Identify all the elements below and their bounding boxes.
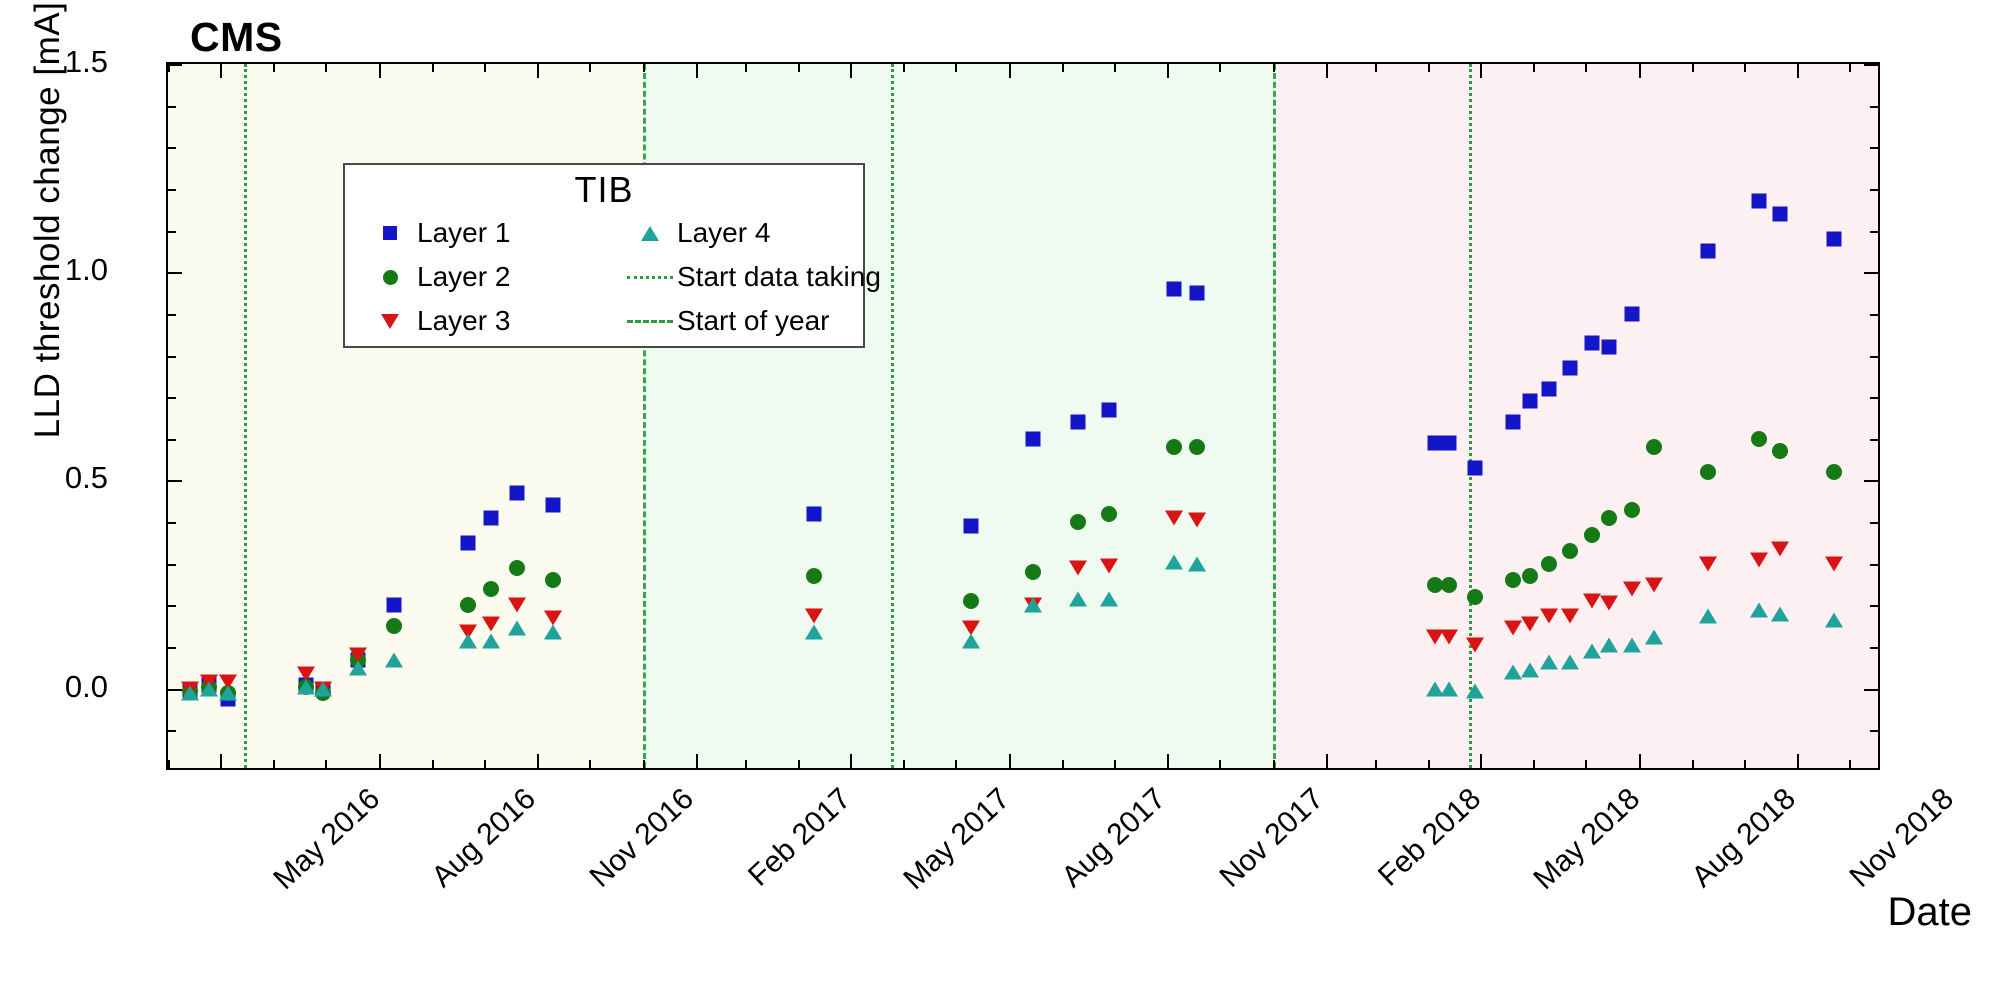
x-tick-minor (1744, 64, 1746, 72)
y-tick-minor (168, 647, 176, 649)
data-point-layer-3 (1583, 594, 1601, 609)
y-tick-major (1864, 480, 1878, 482)
data-point-layer-3 (1100, 558, 1118, 573)
x-tick-minor (1219, 64, 1221, 72)
y-tick-major (1864, 689, 1878, 691)
x-tick-major (1326, 754, 1328, 768)
legend-entry[interactable]: Layer 2 (363, 261, 510, 293)
x-tick-minor (745, 760, 747, 768)
x-tick-label: Nov 2017 (1214, 782, 1331, 894)
legend-entry[interactable]: Layer 4 (623, 217, 770, 249)
data-point-layer-4 (1440, 681, 1458, 696)
x-tick-major (850, 64, 852, 78)
data-point-layer-4 (219, 685, 237, 700)
y-tick-minor (168, 314, 176, 316)
data-point-layer-3 (1825, 556, 1843, 571)
data-point-layer-4 (314, 681, 332, 696)
data-point-layer-2 (483, 581, 499, 597)
data-point-layer-2 (1601, 510, 1617, 526)
y-tick-label: 1.5 (65, 44, 108, 80)
x-tick-minor (903, 760, 905, 768)
x-tick-major (1326, 64, 1328, 78)
y-tick-minor (1870, 147, 1878, 149)
data-point-layer-4 (1583, 644, 1601, 659)
x-tick-minor (1219, 760, 1221, 768)
data-point-layer-4 (1069, 592, 1087, 607)
x-tick-major (1167, 754, 1169, 768)
x-tick-major (537, 754, 539, 768)
y-tick-minor (1870, 605, 1878, 607)
data-point-layer-4 (508, 621, 526, 636)
legend-label: Layer 2 (417, 261, 510, 293)
data-point-layer-1 (461, 535, 476, 550)
legend-marker-sample (383, 270, 398, 285)
x-tick-major (1009, 754, 1011, 768)
y-tick-minor (168, 147, 176, 149)
data-point-layer-1 (1562, 361, 1577, 376)
x-tick-minor (1585, 64, 1587, 72)
x-tick-major (696, 754, 698, 768)
x-tick-minor (1428, 64, 1430, 72)
data-point-layer-1 (1541, 381, 1556, 396)
legend-entry[interactable]: Start of year (623, 305, 830, 337)
x-tick-minor (1533, 760, 1535, 768)
data-point-layer-4 (1100, 592, 1118, 607)
x-tick-major (379, 754, 381, 768)
x-tick-major (220, 754, 222, 768)
y-tick-minor (1870, 397, 1878, 399)
data-point-layer-1 (1025, 431, 1040, 446)
data-point-layer-2 (1562, 543, 1578, 559)
x-tick-major (537, 64, 539, 78)
vline-dotted (244, 64, 247, 768)
data-point-layer-3 (1750, 552, 1768, 567)
data-point-layer-4 (459, 633, 477, 648)
y-tick-major (1864, 272, 1878, 274)
legend-marker-dotted-line (623, 276, 677, 279)
data-point-layer-1 (1773, 206, 1788, 221)
data-point-layer-1 (509, 485, 524, 500)
x-tick-minor (1375, 64, 1377, 72)
y-tick-major (1864, 64, 1878, 66)
data-point-layer-1 (1505, 415, 1520, 430)
x-tick-minor (643, 64, 645, 72)
x-tick-label: Nov 2016 (584, 782, 701, 894)
y-tick-major (168, 64, 182, 66)
x-tick-label: May 2018 (1527, 782, 1647, 897)
data-point-layer-3 (1600, 596, 1618, 611)
data-point-layer-4 (1645, 629, 1663, 644)
data-point-layer-1 (1826, 231, 1841, 246)
y-tick-minor (168, 605, 176, 607)
vline-dotted (891, 64, 894, 768)
x-tick-minor (1849, 760, 1851, 768)
x-tick-minor (168, 760, 170, 768)
x-tick-major (850, 754, 852, 768)
data-point-layer-3 (805, 608, 823, 623)
x-tick-minor (589, 64, 591, 72)
data-point-layer-3 (1069, 560, 1087, 575)
vline-dashed (1273, 64, 1276, 768)
legend-entry[interactable]: Layer 3 (363, 305, 510, 337)
data-point-layer-2 (1166, 439, 1182, 455)
x-tick-minor (273, 760, 275, 768)
x-tick-label: Aug 2016 (425, 782, 542, 894)
data-point-layer-1 (1427, 435, 1442, 450)
data-point-layer-1 (1070, 415, 1085, 430)
data-point-layer-2 (806, 568, 822, 584)
data-point-layer-1 (1624, 306, 1639, 321)
data-point-layer-1 (806, 506, 821, 521)
data-point-layer-3 (1645, 577, 1663, 592)
data-point-layer-4 (1521, 662, 1539, 677)
data-point-layer-2 (1025, 564, 1041, 580)
data-point-layer-2 (1751, 431, 1767, 447)
legend-label: Layer 1 (417, 217, 510, 249)
y-tick-major (168, 272, 182, 274)
y-tick-minor (168, 189, 176, 191)
data-point-layer-1 (1700, 244, 1715, 259)
data-point-layer-2 (1522, 568, 1538, 584)
data-point-layer-3 (482, 617, 500, 632)
data-point-layer-4 (1623, 637, 1641, 652)
y-tick-minor (1870, 231, 1878, 233)
x-tick-minor (1062, 64, 1064, 72)
data-point-layer-4 (962, 633, 980, 648)
x-tick-minor (1744, 760, 1746, 768)
data-point-layer-4 (1699, 608, 1717, 623)
data-point-layer-4 (1825, 612, 1843, 627)
y-tick-label: 0.5 (65, 460, 108, 496)
legend-label: Layer 4 (677, 217, 770, 249)
legend-marker-triangle-up (623, 226, 677, 241)
y-tick-label: 0.0 (65, 669, 108, 705)
data-point-layer-1 (1441, 435, 1456, 450)
y-tick-minor (168, 356, 176, 358)
x-tick-minor (955, 64, 957, 72)
legend-entry[interactable]: Layer 1 (363, 217, 510, 249)
x-tick-major (696, 64, 698, 78)
data-point-layer-4 (1540, 654, 1558, 669)
data-point-layer-2 (1700, 464, 1716, 480)
y-tick-minor (1870, 564, 1878, 566)
x-tick-minor (1375, 760, 1377, 768)
data-point-layer-1 (545, 498, 560, 513)
y-tick-minor (168, 397, 176, 399)
x-tick-label: Aug 2018 (1685, 782, 1802, 894)
x-tick-minor (589, 760, 591, 768)
data-point-layer-2 (1541, 556, 1557, 572)
legend-label: Start data taking (677, 261, 881, 293)
y-axis-title: LLD threshold change [mA] (28, 0, 68, 530)
y-tick-minor (168, 439, 176, 441)
y-tick-major (168, 689, 182, 691)
x-tick-minor (1692, 760, 1694, 768)
data-point-layer-1 (483, 510, 498, 525)
legend-marker-sample (641, 226, 659, 241)
x-tick-label: Aug 2017 (1055, 782, 1172, 894)
data-point-layer-3 (1466, 637, 1484, 652)
x-tick-major (1480, 64, 1482, 78)
x-tick-minor (432, 760, 434, 768)
x-tick-minor (1533, 64, 1535, 72)
data-point-layer-3 (1504, 621, 1522, 636)
data-point-layer-2 (1101, 506, 1117, 522)
x-tick-minor (1062, 760, 1064, 768)
data-point-layer-1 (1101, 402, 1116, 417)
data-point-layer-2 (460, 597, 476, 613)
y-tick-minor (1870, 189, 1878, 191)
data-point-layer-1 (1585, 336, 1600, 351)
x-tick-minor (484, 64, 486, 72)
x-tick-minor (745, 64, 747, 72)
data-point-layer-1 (387, 598, 402, 613)
legend-label: Start of year (677, 305, 830, 337)
y-tick-minor (1870, 522, 1878, 524)
y-tick-minor (1870, 314, 1878, 316)
x-tick-minor (798, 64, 800, 72)
data-point-layer-3 (508, 598, 526, 613)
y-tick-minor (1870, 647, 1878, 649)
x-tick-minor (1585, 760, 1587, 768)
legend-title: TIB (345, 169, 863, 211)
x-tick-major (1639, 64, 1641, 78)
data-point-layer-2 (963, 593, 979, 609)
x-tick-minor (168, 64, 170, 72)
data-point-layer-2 (509, 560, 525, 576)
legend-marker-circle (363, 270, 417, 285)
x-tick-minor (798, 760, 800, 768)
data-point-layer-1 (1467, 460, 1482, 475)
y-tick-minor (1870, 106, 1878, 108)
data-point-layer-1 (963, 519, 978, 534)
x-tick-label: Nov 2018 (1844, 782, 1961, 894)
data-point-layer-3 (544, 610, 562, 625)
y-tick-minor (168, 730, 176, 732)
x-tick-minor (484, 760, 486, 768)
y-tick-minor (1870, 730, 1878, 732)
x-tick-label: Feb 2018 (1372, 782, 1488, 893)
x-tick-minor (1114, 760, 1116, 768)
x-tick-minor (1849, 64, 1851, 72)
data-point-layer-1 (1522, 394, 1537, 409)
data-point-layer-4 (1504, 665, 1522, 680)
x-tick-label: May 2016 (267, 782, 387, 897)
x-tick-label: May 2017 (897, 782, 1017, 897)
data-point-layer-3 (1521, 617, 1539, 632)
data-point-layer-4 (297, 679, 315, 694)
x-tick-minor (955, 760, 957, 768)
legend-marker-square (363, 226, 417, 240)
y-tick-minor (168, 522, 176, 524)
y-tick-minor (1870, 356, 1878, 358)
data-point-layer-3 (1188, 513, 1206, 528)
data-point-layer-4 (805, 625, 823, 640)
x-tick-minor (1428, 760, 1430, 768)
x-tick-major (379, 64, 381, 78)
x-tick-minor (325, 64, 327, 72)
data-point-layer-2 (1646, 439, 1662, 455)
vline-dotted (1469, 64, 1472, 768)
data-point-layer-3 (1699, 556, 1717, 571)
legend-marker-sample (381, 314, 399, 329)
data-point-layer-3 (1771, 542, 1789, 557)
x-tick-major (1009, 64, 1011, 78)
data-point-layer-3 (1623, 581, 1641, 596)
y-tick-label: 1.0 (65, 252, 108, 288)
x-tick-minor (325, 760, 327, 768)
y-tick-major (168, 480, 182, 482)
x-tick-major (1797, 64, 1799, 78)
data-point-layer-2 (1624, 502, 1640, 518)
data-point-layer-2 (1467, 589, 1483, 605)
legend-line-sample (627, 276, 673, 279)
legend-marker-triangle-down (363, 314, 417, 329)
x-tick-major (1167, 64, 1169, 78)
data-point-layer-4 (1466, 683, 1484, 698)
data-point-layer-2 (1505, 572, 1521, 588)
data-point-layer-4 (1771, 606, 1789, 621)
data-point-layer-4 (1750, 602, 1768, 617)
x-tick-label: Feb 2017 (742, 782, 858, 893)
data-point-layer-4 (544, 625, 562, 640)
data-point-layer-4 (1600, 637, 1618, 652)
data-point-layer-2 (1070, 514, 1086, 530)
data-point-layer-4 (349, 660, 367, 675)
data-point-layer-1 (1752, 194, 1767, 209)
x-tick-major (220, 64, 222, 78)
y-tick-minor (168, 106, 176, 108)
y-tick-minor (168, 231, 176, 233)
data-point-layer-2 (386, 618, 402, 634)
legend-marker-dashed-line (623, 320, 677, 323)
x-tick-minor (643, 760, 645, 768)
y-tick-minor (1870, 439, 1878, 441)
data-point-layer-2 (1189, 439, 1205, 455)
legend-marker-sample (383, 226, 397, 240)
data-point-layer-4 (1188, 556, 1206, 571)
data-point-layer-4 (482, 633, 500, 648)
data-point-layer-4 (1165, 554, 1183, 569)
data-point-layer-3 (1440, 629, 1458, 644)
data-point-layer-2 (1772, 443, 1788, 459)
data-point-layer-4 (385, 652, 403, 667)
x-tick-minor (1273, 64, 1275, 72)
x-tick-major (1480, 754, 1482, 768)
cms-experiment-label: CMS (190, 14, 283, 61)
x-tick-minor (432, 64, 434, 72)
legend-label: Layer 3 (417, 305, 510, 337)
x-tick-minor (1114, 64, 1116, 72)
data-point-layer-2 (545, 572, 561, 588)
data-point-layer-3 (1540, 608, 1558, 623)
x-tick-major (1639, 754, 1641, 768)
data-point-layer-1 (1189, 286, 1204, 301)
data-point-layer-1 (1167, 281, 1182, 296)
data-point-layer-2 (1584, 527, 1600, 543)
data-point-layer-4 (1561, 654, 1579, 669)
x-tick-minor (273, 64, 275, 72)
x-tick-minor (1692, 64, 1694, 72)
legend-box: TIB Layer 1Layer 2Layer 3Layer 4Start da… (343, 163, 865, 348)
x-axis-title: Date (1888, 890, 1973, 935)
x-tick-minor (1273, 760, 1275, 768)
data-point-layer-3 (1165, 510, 1183, 525)
x-tick-minor (903, 64, 905, 72)
data-point-layer-2 (1441, 577, 1457, 593)
data-point-layer-1 (1602, 340, 1617, 355)
chart-root: CMS LLD threshold change [mA] Date 0.00.… (0, 0, 2000, 1000)
x-tick-major (1797, 754, 1799, 768)
data-point-layer-4 (1024, 598, 1042, 613)
y-tick-minor (168, 564, 176, 566)
data-point-layer-4 (181, 685, 199, 700)
data-point-layer-3 (1561, 608, 1579, 623)
legend-line-sample (627, 320, 673, 323)
data-point-layer-4 (200, 681, 218, 696)
data-point-layer-2 (1826, 464, 1842, 480)
legend-entry[interactable]: Start data taking (623, 261, 881, 293)
